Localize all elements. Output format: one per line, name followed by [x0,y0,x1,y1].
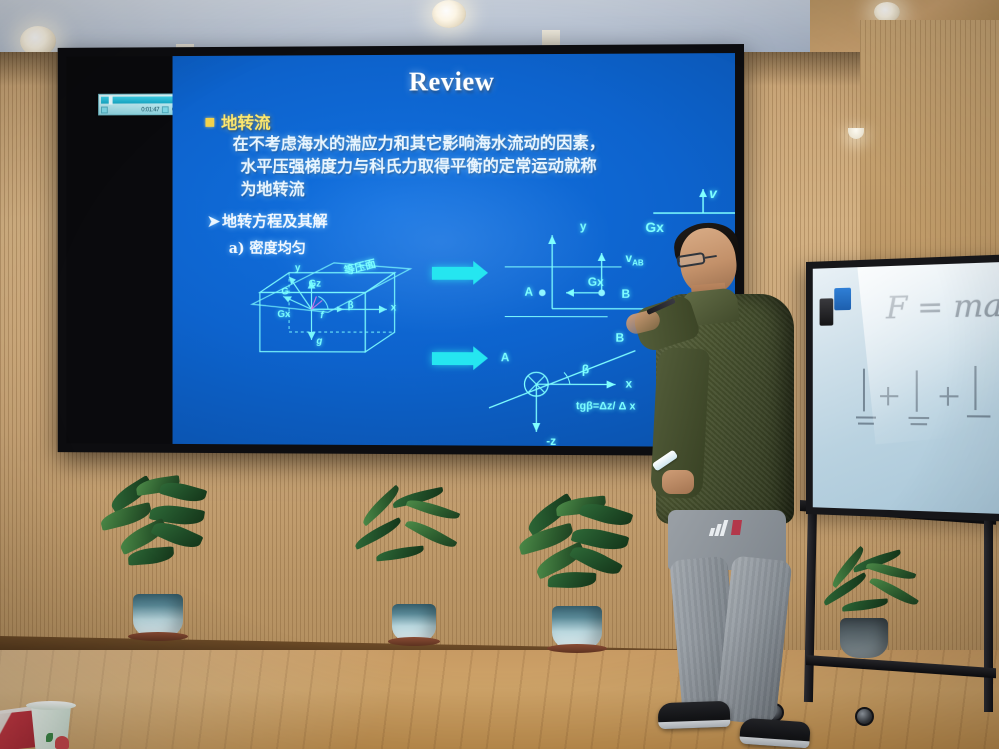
isobaric-surface-cube [238,255,443,374]
whiteboard-caster[interactable] [855,707,874,726]
paper-cup-rim [26,701,76,710]
black-eraser-icon[interactable] [820,298,834,325]
ceiling-spotlight [874,2,900,22]
shoe [739,718,811,749]
ceiling-spotlight [432,0,466,28]
cyan-right-arrow-icon [432,267,473,280]
beta-label-b: B [616,331,625,345]
beta-label-minus-z: -z [546,434,556,447]
slide-arrow-item: 地转方程及其解 [222,211,328,230]
cube-label-beta: β [348,300,354,311]
blue-magnet-icon[interactable] [834,288,851,311]
beta-label-a: A [501,350,510,364]
slide-body-line: 水平压强梯度力与科氏力取得平衡的定常运动就称 [240,154,596,178]
vab-label-a: A [524,285,533,299]
cube-label-g-gravity: g [316,336,322,347]
slide-body-line: 在不考虑海水的湍应力和其它影响海水流动的因素， [233,131,605,155]
beta-label-x: x [625,377,632,391]
slide-heading-row: 地转流 [205,109,270,134]
lowered-hand [662,470,694,494]
beta-label-beta: β [582,362,589,376]
adidas-logo-icon [710,520,730,536]
paper-cup-leaf-print [46,733,53,742]
cube-label-gz: Gz [309,279,321,290]
wall-display[interactable]: 0:01:47 0:02:06 Review 地转流 在不考虑海水的湍应力和其它… [58,44,744,456]
vab-label-gx: Gx [588,275,604,289]
slide-body-line: 为地转流 [240,178,304,201]
cube-label-f: f [320,310,323,321]
lecturer [648,228,818,749]
whiteboard-leg [984,512,993,712]
shoe [658,701,731,729]
play-icon[interactable] [101,107,108,114]
cube-label-x: x [391,302,396,313]
display-panel: 0:01:47 0:02:06 Review 地转流 在不考虑海水的湍应力和其它… [66,53,735,447]
whiteboard-glare [856,254,999,445]
vab-v-main: v [625,251,632,265]
vab-v-subscript: AB [632,258,643,267]
gxvf-label-v: v [709,185,717,201]
floor-light-reflection [0,650,620,749]
cube-label-g-vector: G [281,287,289,298]
elapsed-time: 0:01:47 [141,107,159,113]
slide-heading: 地转流 [221,109,271,134]
cube-label-y: y [295,263,300,274]
cyan-right-arrow-icon [432,352,473,365]
volume-icon[interactable] [162,106,169,113]
cube-label-gx: Gx [277,309,290,320]
vab-label-y: y [580,219,587,233]
mobile-whiteboard[interactable]: F = ma [806,254,999,522]
slide-arrow-item-row: ➤地转方程及其解 [207,209,327,231]
lecture-hall-scene: 0:01:47 0:02:06 Review 地转流 在不考虑海水的湍应力和其它… [0,0,999,749]
vab-label-v: vAB [625,251,643,267]
beta-formula: tgβ=Δz/ Δ x [576,400,636,412]
vab-label-b: B [622,287,631,301]
slide-title: Review [173,65,735,98]
arrow-bullet-icon: ➤ [207,212,220,231]
seek-handle[interactable] [109,96,113,105]
paper-cup-fruit-print [55,736,69,749]
square-bullet-icon [205,118,214,127]
